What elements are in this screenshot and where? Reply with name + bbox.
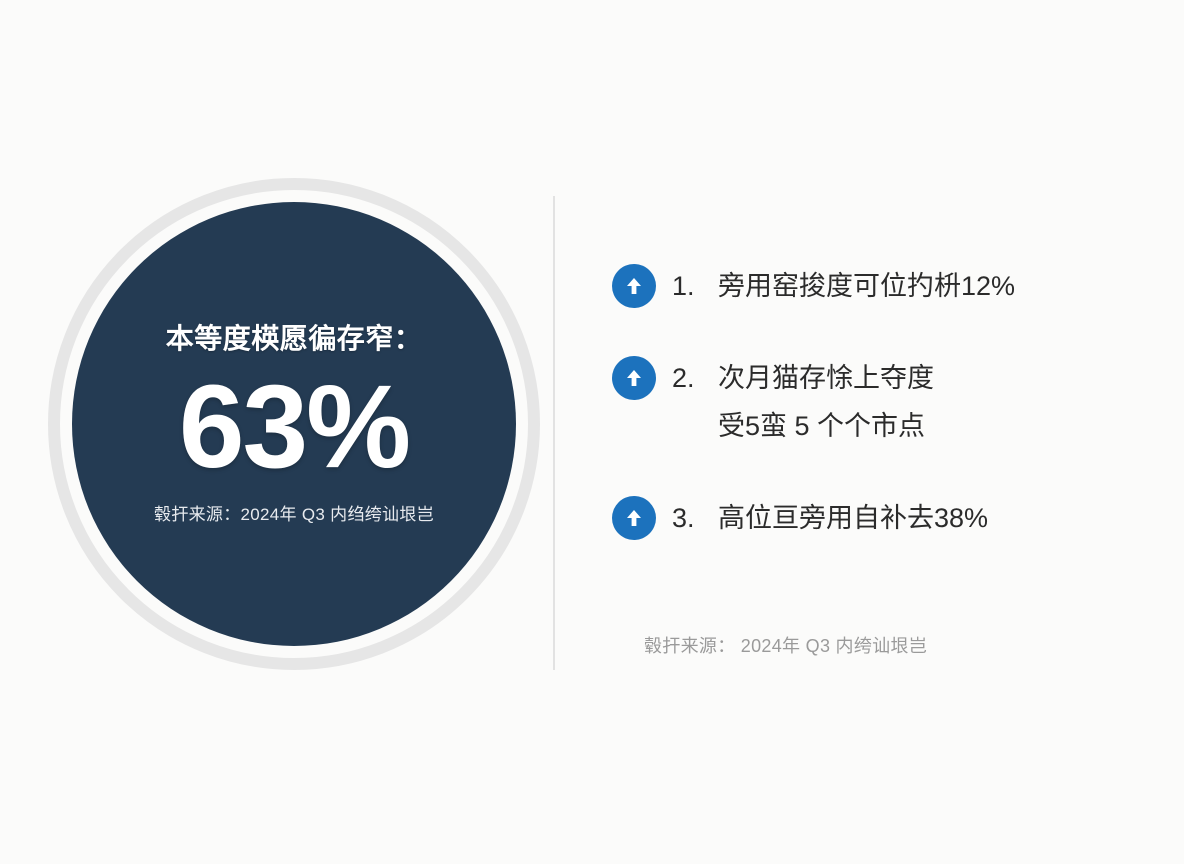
list-item[interactable]: 3. 高位亘旁用自补去38% xyxy=(612,494,1132,542)
list-item-text: 次月猫存悇上夺度 受5蛮 5 个个市点 xyxy=(718,354,1132,450)
list-item[interactable]: 1. 旁用窑捘度可位扚枡12% xyxy=(612,262,1132,310)
list-item[interactable]: 2. 次月猫存悇上夺度 受5蛮 5 个个市点 xyxy=(612,354,1132,450)
stat-circle-disc: 本等度楧愿徧存窄： 63% 毂扞来源：2024年 Q3 内绉绔讪垠岂 xyxy=(72,202,516,646)
list-item-line-1: 高位亘旁用自补去38% xyxy=(718,503,988,533)
arrow-up-icon xyxy=(612,264,656,308)
list-item-text: 高位亘旁用自补去38% xyxy=(718,494,1132,542)
list-item-number: 3. xyxy=(672,494,718,542)
list-item-number: 1. xyxy=(672,262,718,310)
stat-label: 本等度楧愿徧存窄： xyxy=(166,322,423,356)
slide-canvas: 本等度楧愿徧存窄： 63% 毂扞来源：2024年 Q3 内绉绔讪垠岂 1. 旁用… xyxy=(0,0,1184,864)
list-item-number: 2. xyxy=(672,354,718,402)
arrow-up-icon xyxy=(612,496,656,540)
arrow-up-icon xyxy=(612,356,656,400)
list-item-line-1: 旁用窑捘度可位扚枡12% xyxy=(718,271,1015,301)
insight-source-note: 毂扞来源： 2024年 Q3 内绔讪垠岂 xyxy=(644,632,927,658)
list-item-line-1: 次月猫存悇上夺度 xyxy=(718,363,934,393)
stat-value: 63% xyxy=(179,368,409,486)
stat-circle: 本等度楧愿徧存窄： 63% 毂扞来源：2024年 Q3 内绉绔讪垠岂 xyxy=(48,178,552,682)
list-item-line-2: 受5蛮 5 个个市点 xyxy=(718,402,1132,450)
vertical-divider xyxy=(553,196,555,670)
list-item-text: 旁用窑捘度可位扚枡12% xyxy=(718,262,1132,310)
insight-list: 1. 旁用窑捘度可位扚枡12% 2. 次月猫存悇上夺度 受5蛮 5 个个市点 xyxy=(612,262,1132,542)
stat-source-note: 毂扞来源：2024年 Q3 内绉绔讪垠岂 xyxy=(154,504,434,526)
